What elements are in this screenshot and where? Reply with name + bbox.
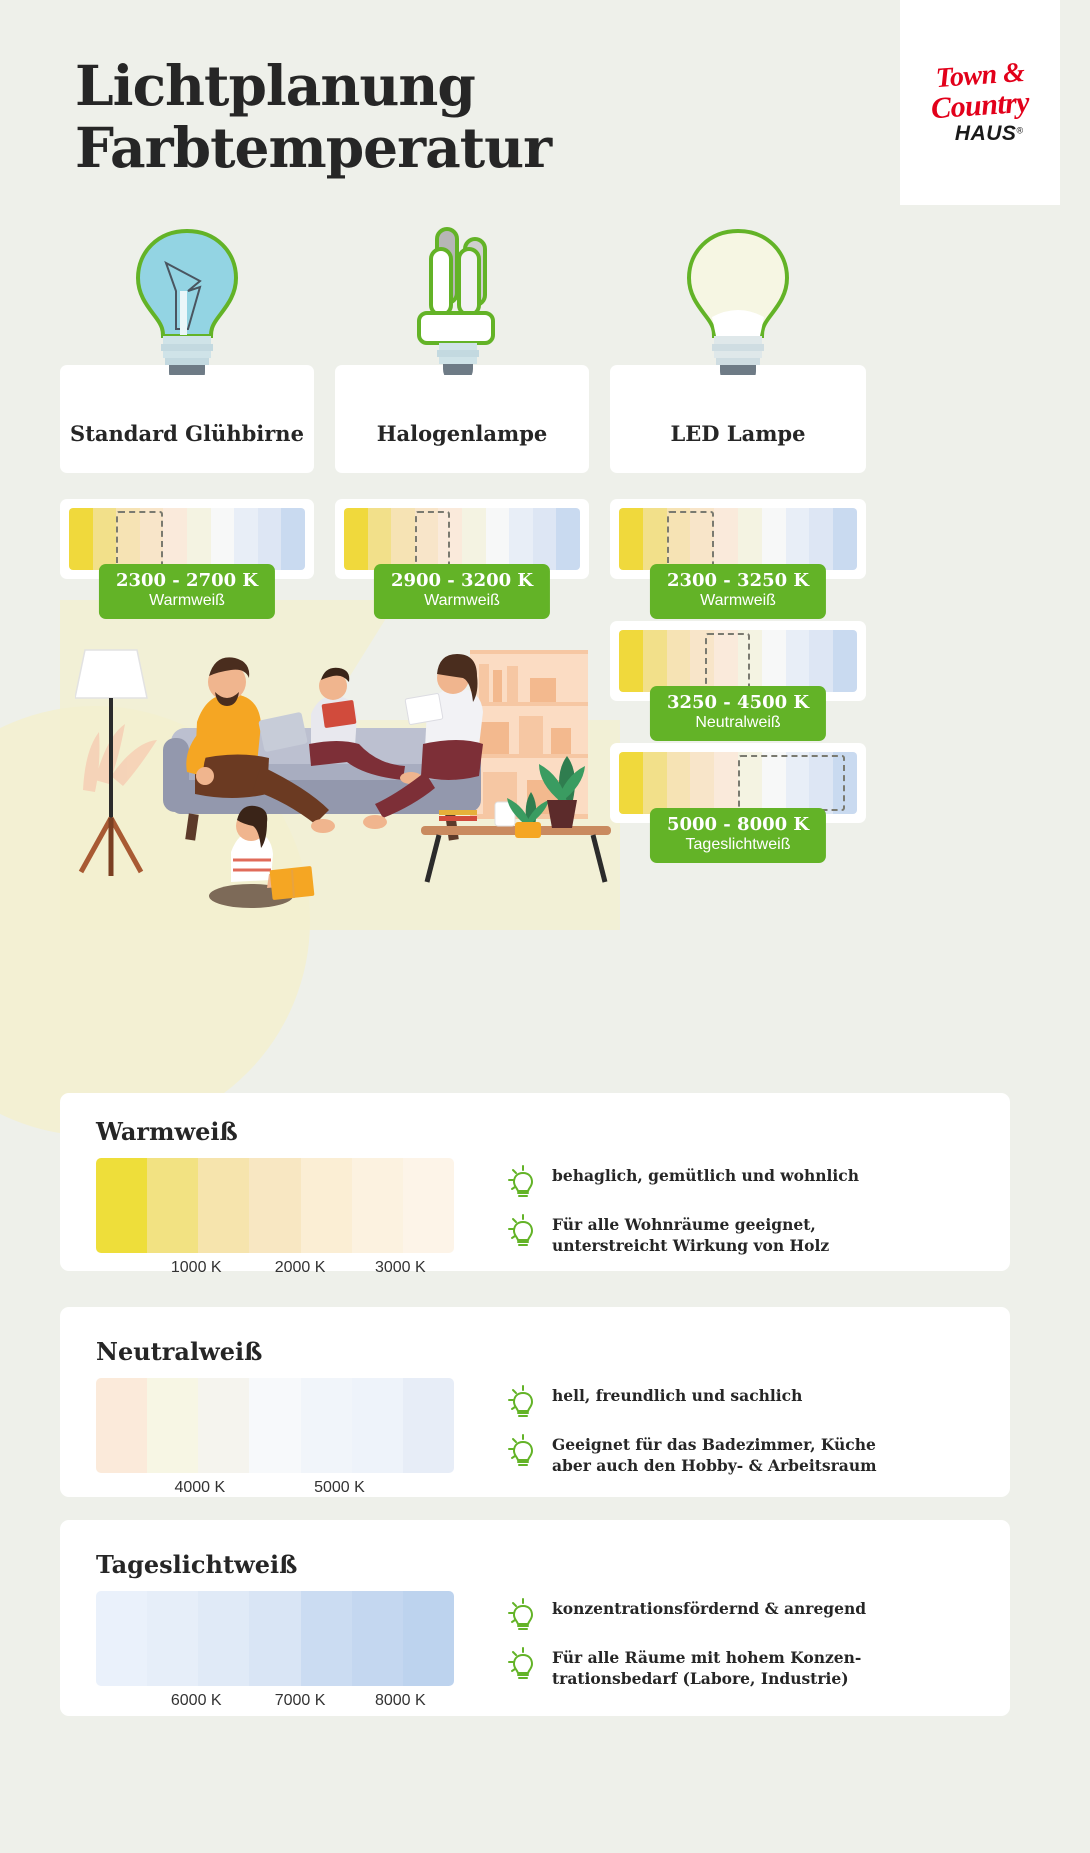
spectrum-swatch [619,752,643,814]
bullet-line-1: konzentrationsfördernd & anregend [552,1599,866,1618]
logo-country-text: Country [930,87,1030,124]
lamp-column: Halogenlampe2900 - 3200 KWarmweiß [335,230,589,579]
led-bulb-icon [610,230,866,375]
spectrum-swatch [643,752,667,814]
spectrum-swatch [762,752,786,814]
panel-tageslichtweiss: Tageslichtweiß6000 K7000 K8000 K konzent… [60,1520,1010,1716]
spectrum-swatch [533,508,557,570]
temperature-label: Neutralweiß [667,713,809,732]
list-item: Für alle Räume mit hohem Konzen-trations… [506,1648,1010,1690]
spectrum-swatch [786,508,810,570]
temperature-label: Warmweiß [391,591,533,610]
family-reading-illustration [75,630,615,920]
spectrum-swatch [619,630,643,692]
spectrum-swatch [234,508,258,570]
list-item: behaglich, gemütlich und wohnlich [506,1166,1010,1199]
spectrum-swatch [738,630,762,692]
temperature-badge[interactable]: 2900 - 3200 KWarmweiß [374,564,550,619]
temperature-badge[interactable]: 2300 - 2700 KWarmweiß [99,564,275,619]
spectrum-swatch [786,752,810,814]
scale-swatch [198,1158,249,1253]
spectrum-swatch [762,508,786,570]
spectrum-bar [344,508,580,570]
scale-gradient-bar [96,1158,454,1253]
scale-tick-labels: 6000 K7000 K8000 K [96,1692,454,1718]
temperature-range: 3250 - 4500 K [667,693,809,713]
spectrum-swatch [714,752,738,814]
panel-bullet-list: konzentrationsfördernd & anregend Für al… [506,1591,1010,1718]
spectrum-swatch [809,508,833,570]
spectrum-swatch [786,630,810,692]
scale-gradient-bar [96,1591,454,1686]
spectrum-swatch [116,508,140,570]
bulb-icon [506,1212,540,1248]
panel-title: Tageslichtweiß [96,1550,1010,1579]
spectrum-swatch [462,508,486,570]
temperature-scale: 6000 K7000 K8000 K [96,1591,454,1718]
logo-haus-text: HAUS [955,123,1017,144]
scale-swatch [249,1591,300,1686]
scale-tick: 5000 K [314,1479,365,1497]
bullet-line-1: Geeignet für das Badezimmer, Küche [552,1435,876,1454]
scale-tick: 1000 K [171,1259,222,1277]
temperature-badge[interactable]: 2300 - 3250 KWarmweiß [650,564,826,619]
scale-swatch [96,1591,147,1686]
scale-swatch [249,1158,300,1253]
temperature-label: Warmweiß [116,591,258,610]
spectrum-swatch [738,508,762,570]
spectrum-swatch [415,508,439,570]
bullet-line-2: unterstreicht Wirkung von Holz [552,1236,829,1257]
temperature-range: 2300 - 2700 K [116,571,258,591]
scale-swatch [352,1378,403,1473]
temperature-badge[interactable]: 3250 - 4500 KNeutralweiß [650,686,826,741]
spectrum-swatch [714,630,738,692]
panel-neutralweiss: Neutralweiß4000 K5000 K hell, freundlich… [60,1307,1010,1497]
scale-tick: 8000 K [375,1692,426,1710]
bulb-icon [506,1163,540,1199]
incandescent-bulb-icon [60,230,314,375]
spectrum-swatch [690,630,714,692]
lamp-name-card[interactable]: LED Lampe [610,365,866,473]
bullet-line-2: trationsbedarf (Labore, Industrie) [552,1669,861,1690]
scale-gradient-bar [96,1378,454,1473]
spectrum-swatch [833,630,857,692]
list-item: hell, freundlich und sachlich [506,1386,1010,1419]
spectrum-swatch [714,508,738,570]
scale-swatch [96,1158,147,1253]
scale-swatch [352,1158,403,1253]
spectrum-swatch [258,508,282,570]
spectrum-bar [69,508,305,570]
bullet-text: Für alle Wohnräume geeignet,unterstreich… [552,1215,829,1257]
cfl-bulb-icon [335,230,589,375]
bullet-text: hell, freundlich und sachlich [552,1386,802,1407]
bullet-text: Für alle Räume mit hohem Konzen-trations… [552,1648,861,1690]
spectrum-swatch [643,630,667,692]
scale-tick: 2000 K [275,1259,326,1277]
spectrum-swatch [509,508,533,570]
scale-swatch [301,1158,352,1253]
spectrum-swatch [211,508,235,570]
scale-swatch [403,1158,454,1253]
spectrum-swatch [344,508,368,570]
scale-tick-labels: 1000 K2000 K3000 K [96,1259,454,1285]
spectrum-card: 3250 - 4500 KNeutralweiß [610,621,866,701]
scale-swatch [147,1158,198,1253]
spectrum-swatch [187,508,211,570]
spectrum-card: 5000 - 8000 KTageslichtweiß [610,743,866,823]
spectrum-swatch [140,508,164,570]
page-title: Lichtplanung Farbtemperatur [75,55,551,178]
scale-swatch [147,1378,198,1473]
spectrum-swatch [163,508,187,570]
lamp-column: Standard Glühbirne2300 - 2700 KWarmweiß [60,230,314,579]
bullet-text: behaglich, gemütlich und wohnlich [552,1166,859,1187]
scale-swatch [249,1378,300,1473]
temperature-badge[interactable]: 5000 - 8000 KTageslichtweiß [650,808,826,863]
spectrum-swatch [690,752,714,814]
list-item: Für alle Wohnräume geeignet,unterstreich… [506,1215,1010,1257]
scale-swatch [198,1591,249,1686]
spectrum-swatch [643,508,667,570]
bulb-icon [506,1432,540,1468]
spectrum-swatch [368,508,392,570]
spectrum-swatch [619,508,643,570]
scale-swatch [403,1591,454,1686]
temperature-range: 5000 - 8000 K [667,815,809,835]
spectrum-swatch [281,508,305,570]
lamp-name-card[interactable]: Standard Glühbirne [60,365,314,473]
scale-swatch [96,1378,147,1473]
spectrum-swatch [667,752,691,814]
page-title-line2: Farbtemperatur [75,117,551,179]
lamp-name-card[interactable]: Halogenlampe [335,365,589,473]
bullet-line-1: Für alle Räume mit hohem Konzen- [552,1648,861,1667]
spectrum-swatch [809,752,833,814]
bullet-line-1: behaglich, gemütlich und wohnlich [552,1166,859,1185]
spectrum-card: 2300 - 3250 KWarmweiß [610,499,866,579]
bullet-text: konzentrationsfördernd & anregend [552,1599,866,1620]
spectrum-bar [619,508,857,570]
lamp-name: LED Lampe [671,421,806,446]
panel-warmweiss: Warmweiß1000 K2000 K3000 K behaglich, ge… [60,1093,1010,1271]
temperature-range: 2900 - 3200 K [391,571,533,591]
spectrum-card: 2900 - 3200 KWarmweiß [335,499,589,579]
spectrum-swatch [667,630,691,692]
spectrum-swatch [738,752,762,814]
spectrum-swatch [93,508,117,570]
scale-tick: 6000 K [171,1692,222,1710]
lamp-name: Halogenlampe [377,421,548,446]
spectrum-swatch [762,630,786,692]
lamp-name: Standard Glühbirne [70,421,304,446]
temperature-label: Warmweiß [667,591,809,610]
bulb-icon [506,1596,540,1632]
temperature-range: 2300 - 3250 K [667,571,809,591]
list-item: Geeignet für das Badezimmer, Kücheaber a… [506,1435,1010,1477]
bullet-line-1: Für alle Wohnräume geeignet, [552,1215,816,1234]
infographic-page: Lichtplanung Farbtemperatur Town & Count… [0,0,1090,1853]
scale-tick-labels: 4000 K5000 K [96,1479,454,1505]
spectrum-swatch [690,508,714,570]
panel-bullet-list: hell, freundlich und sachlich Geeignet f… [506,1378,1010,1505]
scale-swatch [198,1378,249,1473]
bullet-line-2: aber auch den Hobby- & Arbeitsraum [552,1456,877,1477]
spectrum-swatch [69,508,93,570]
temperature-scale: 1000 K2000 K3000 K [96,1158,454,1285]
logo-registered-icon: ® [1016,125,1023,135]
spectrum-swatch [438,508,462,570]
spectrum-swatch [809,630,833,692]
bulb-icon [506,1645,540,1681]
scale-swatch [301,1591,352,1686]
bullet-line-1: hell, freundlich und sachlich [552,1386,802,1405]
spectrum-bar [619,752,857,814]
scale-tick: 7000 K [275,1692,326,1710]
panel-title: Warmweiß [96,1117,1010,1146]
bullet-text: Geeignet für das Badezimmer, Kücheaber a… [552,1435,877,1477]
lamp-column: LED Lampe2300 - 3250 KWarmweiß3250 - 450… [610,230,866,823]
brand-logo: Town & Country HAUS® [900,0,1060,205]
scale-tick: 3000 K [375,1259,426,1277]
scale-swatch [147,1591,198,1686]
scale-swatch [301,1378,352,1473]
temperature-scale: 4000 K5000 K [96,1378,454,1505]
spectrum-swatch [667,508,691,570]
bulb-icon [506,1383,540,1419]
spectrum-swatch [556,508,580,570]
scale-swatch [352,1591,403,1686]
list-item: konzentrationsfördernd & anregend [506,1599,1010,1632]
panel-title: Neutralweiß [96,1337,1010,1366]
scale-tick: 4000 K [174,1479,225,1497]
spectrum-card: 2300 - 2700 KWarmweiß [60,499,314,579]
spectrum-swatch [833,508,857,570]
spectrum-bar [619,630,857,692]
spectrum-swatch [833,752,857,814]
scale-swatch [403,1378,454,1473]
temperature-label: Tageslichtweiß [667,835,809,854]
spectrum-swatch [486,508,510,570]
spectrum-swatch [391,508,415,570]
panel-bullet-list: behaglich, gemütlich und wohnlich Für al… [506,1158,1010,1285]
page-title-line1: Lichtplanung [75,55,551,117]
